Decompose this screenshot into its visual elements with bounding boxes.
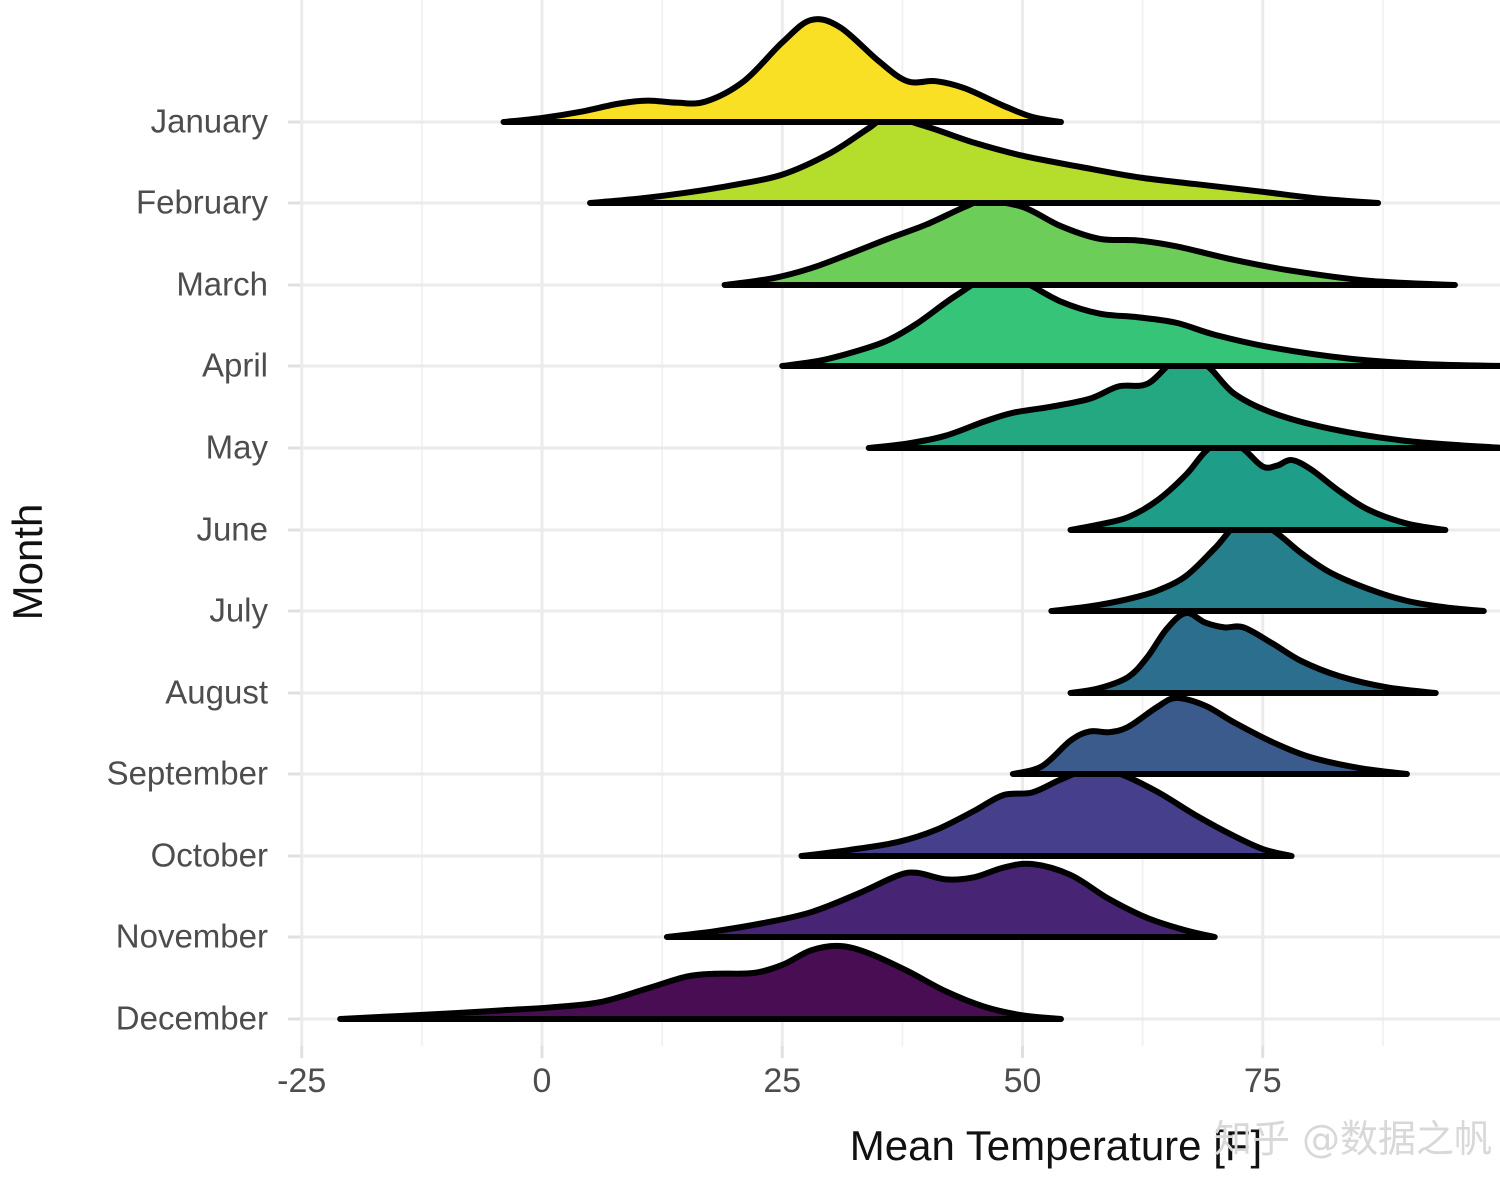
y-axis-label-october: October xyxy=(151,837,268,874)
x-axis-title: Mean Temperature [F] xyxy=(850,1122,1262,1169)
x-axis-label-75: 75 xyxy=(1244,1062,1282,1100)
watermark-label: 知乎 @数据之帆 xyxy=(1214,1117,1492,1161)
y-axis-label-december: December xyxy=(116,1000,268,1037)
y-axis-title: Month xyxy=(4,504,51,621)
y-axis-label-april: April xyxy=(202,347,268,384)
x-axis-tick-labels: -250255075 xyxy=(277,1062,1281,1100)
y-axis-label-november: November xyxy=(116,918,268,955)
y-axis-tick-labels: JanuaryFebruaryMarchAprilMayJuneJulyAugu… xyxy=(107,103,269,1037)
y-axis-label-august: August xyxy=(165,674,268,711)
y-axis-label-september: September xyxy=(107,755,268,792)
y-axis-label-february: February xyxy=(136,184,269,221)
y-axis-label-january: January xyxy=(151,103,269,140)
y-axis-label-june: June xyxy=(196,511,268,548)
y-axis-label-march: March xyxy=(176,266,268,303)
x-axis-label-neg25: -25 xyxy=(277,1062,326,1100)
y-axis-label-may: May xyxy=(206,429,269,466)
ridgeline-chart-figure: JanuaryFebruaryMarchAprilMayJuneJulyAugu… xyxy=(0,0,1500,1200)
x-axis-label-25: 25 xyxy=(763,1062,801,1100)
x-axis-label-0: 0 xyxy=(533,1062,552,1100)
x-axis-tick-marks xyxy=(302,1046,1263,1058)
y-axis-label-july: July xyxy=(209,592,268,629)
chart-canvas: JanuaryFebruaryMarchAprilMayJuneJulyAugu… xyxy=(0,0,1500,1200)
x-axis-label-50: 50 xyxy=(1004,1062,1042,1100)
y-axis-tick-marks xyxy=(288,122,300,1019)
